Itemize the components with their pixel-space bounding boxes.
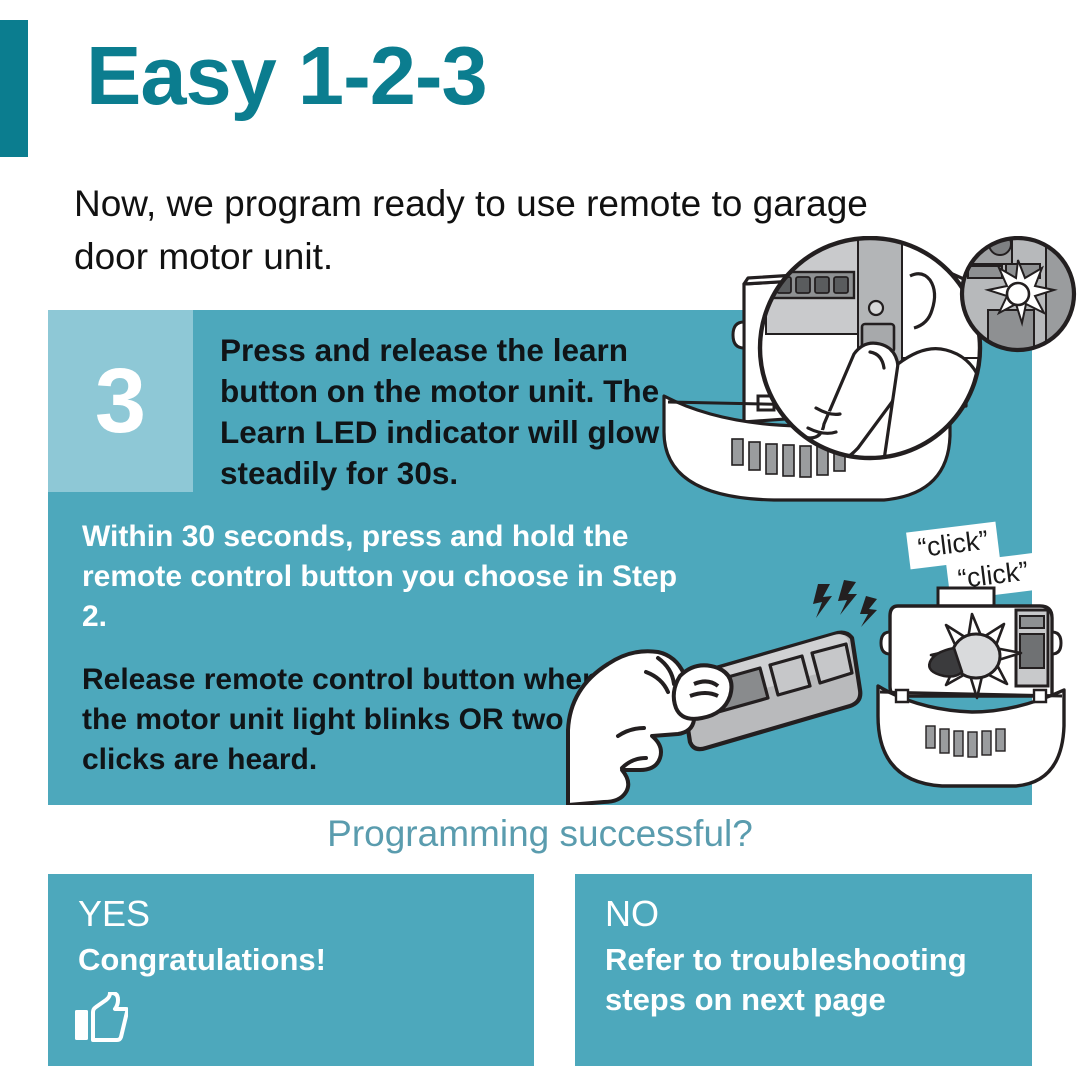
thumbs-up-icon	[74, 992, 128, 1042]
motor-unit-learn-button-illustration	[648, 236, 1080, 504]
infographic-page: Easy 1-2-3 Now, we program ready to use …	[0, 0, 1080, 1080]
answer-no-heading: NO	[605, 896, 659, 932]
answer-box-no[interactable]: NO Refer to troubleshooting steps on nex…	[575, 874, 1032, 1066]
question-text: Programming successful?	[0, 813, 1080, 855]
step-paragraph-release: Release remote control button when the m…	[82, 660, 622, 780]
step-instruction-text: Press and release the learn button on th…	[220, 330, 690, 494]
answer-yes-body: Congratulations!	[78, 940, 478, 980]
answer-box-yes[interactable]: YES Congratulations!	[48, 874, 534, 1066]
page-title: Easy 1-2-3	[86, 32, 487, 119]
step-number: 3	[48, 310, 193, 492]
motor-unit-blinking-illustration	[876, 586, 1080, 806]
answer-no-body: Refer to troubleshooting steps on next p…	[605, 940, 1005, 1021]
remote-control-illustration	[560, 580, 900, 805]
header-accent-bar	[0, 20, 28, 157]
answer-yes-heading: YES	[78, 896, 150, 932]
